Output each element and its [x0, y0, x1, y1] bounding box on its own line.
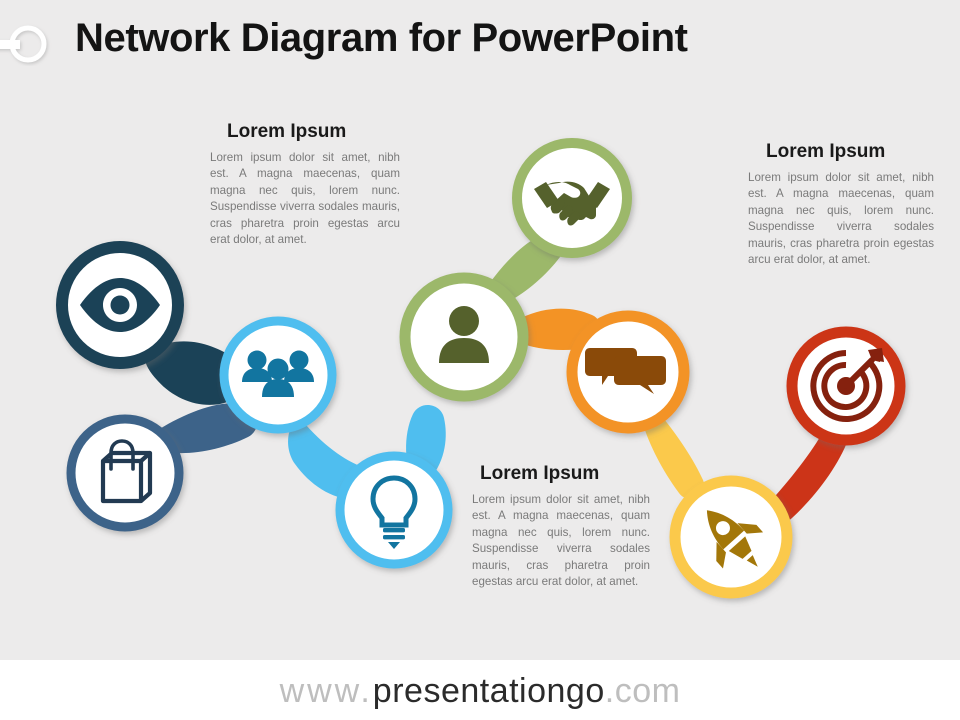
text-block-bottom-heading: Lorem Ipsum [472, 464, 650, 485]
text-block-left: Lorem Ipsum Lorem ipsum dolor sit amet, … [210, 122, 400, 249]
text-block-left-body: Lorem ipsum dolor sit amet, nibh est. A … [210, 150, 400, 249]
footer-www: www. [280, 672, 373, 711]
footer-tld: .com [605, 672, 681, 711]
node-bag-ring[interactable] [71, 419, 179, 527]
node-person-ring[interactable] [405, 278, 523, 396]
text-block-bottom-body: Lorem ipsum dolor sit amet, nibh est. A … [472, 492, 650, 591]
footer-url[interactable]: www.presentationgo.com [0, 663, 960, 720]
text-block-bottom: Lorem Ipsum Lorem ipsum dolor sit amet, … [472, 464, 650, 591]
text-block-right-heading: Lorem Ipsum [748, 142, 934, 163]
text-block-right: Lorem Ipsum Lorem ipsum dolor sit amet, … [748, 142, 934, 269]
text-block-right-body: Lorem ipsum dolor sit amet, nibh est. A … [748, 170, 934, 269]
text-block-left-heading: Lorem Ipsum [210, 122, 400, 143]
footer-brand: presentationgo [373, 672, 605, 711]
slide-canvas: Network Diagram for PowerPoint [0, 0, 960, 720]
